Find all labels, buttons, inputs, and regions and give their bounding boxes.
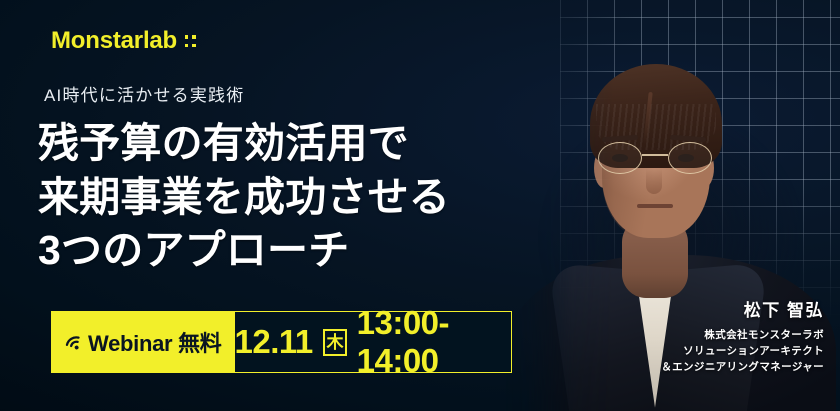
webinar-weekday-badge: 木 [323,329,347,356]
webinar-datetime: 12.11 木 13:00-14:00 [235,312,511,372]
wifi-broadcast-icon [60,328,89,357]
speaker-title-line-1: ソリューションアーキテクト [614,344,824,360]
glasses-lens-right [668,142,712,174]
monstarlab-dots-icon [185,35,196,47]
webinar-promo-banner: Monstarlab AI時代に活かせる実践術 残予算の有効活用で 来期事業を成… [0,0,840,411]
glasses-bridge [642,154,668,156]
headline-line-3: 3つのアプローチ [38,224,450,278]
headline-line-1: 残予算の有効活用で [38,117,450,171]
hero-headline: 残予算の有効活用で 来期事業を成功させる 3つのアプローチ [38,117,450,278]
speaker-company: 株式会社モンスターラボ [614,328,824,344]
portrait-nose [646,168,662,194]
webinar-date: 12.11 [235,323,313,361]
glasses-lens-left [598,142,642,174]
speaker-name: 松下 智弘 [614,296,824,321]
headline-line-2: 来期事業を成功させる [38,171,450,225]
webinar-free-tag: Webinar 無料 [52,312,235,372]
portrait-mouth [637,204,673,208]
webinar-time: 13:00-14:00 [357,304,507,380]
webinar-info-bar: Webinar 無料 12.11 木 13:00-14:00 [51,311,512,373]
speaker-title-line-2: ＆エンジニアリングマネージャー [614,360,824,376]
monstarlab-logo[interactable]: Monstarlab [51,29,196,53]
hero-subtitle: AI時代に活かせる実践術 [44,81,244,106]
speaker-info: 松下 智弘 株式会社モンスターラボ ソリューションアーキテクト ＆エンジニアリン… [614,296,824,375]
logo-wordmark: Monstarlab [51,29,177,53]
webinar-free-label: Webinar 無料 [88,326,222,358]
